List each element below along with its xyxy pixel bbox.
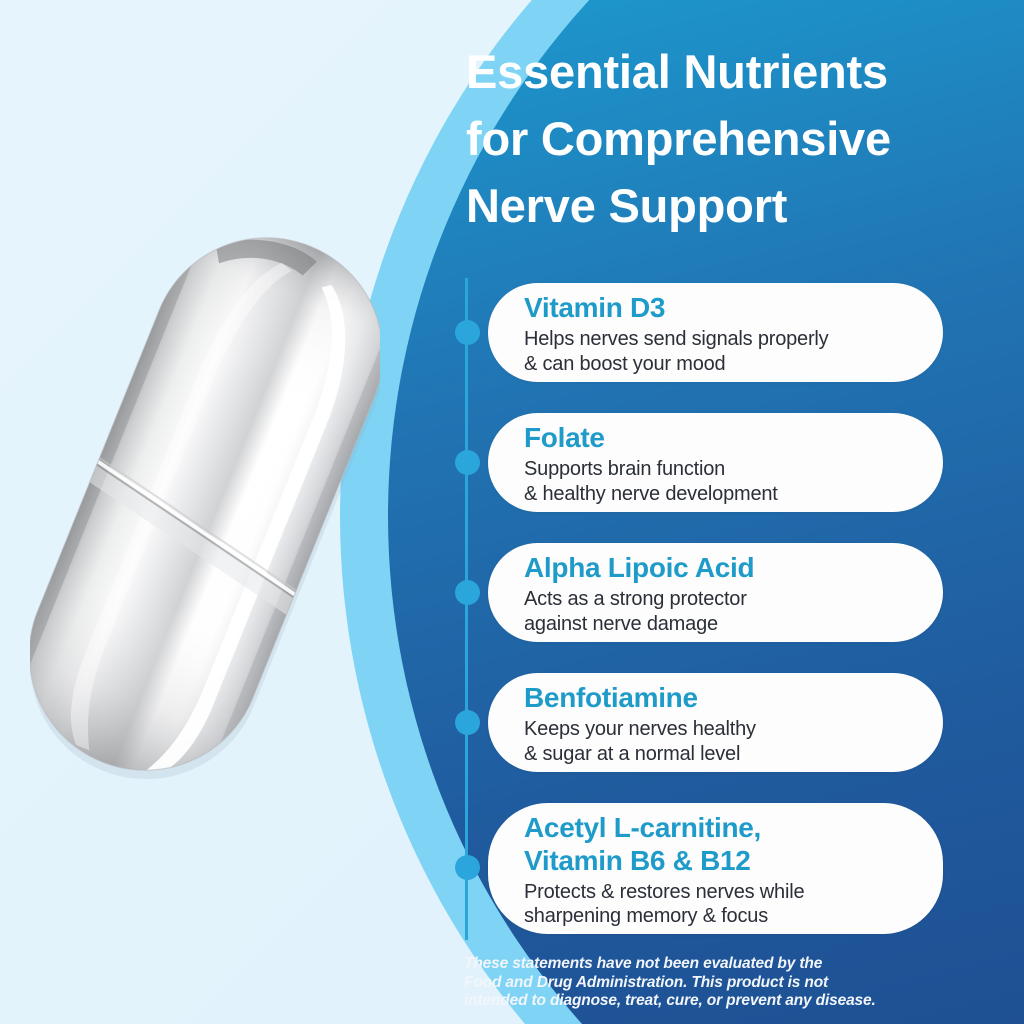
nutrient-title: Alpha Lipoic Acid [524,551,913,584]
nutrient-description: Acts as a strong protector against nerve… [524,587,913,636]
content-column: Essential Nutrients for Comprehensive Ne… [452,0,1024,1024]
nutrient-description: Helps nerves send signals properly & can… [524,327,913,376]
white-capsule-pill [30,212,380,812]
page-title: Essential Nutrients for Comprehensive Ne… [466,38,1011,239]
timeline-dot-3 [455,580,480,605]
timeline-dot-1 [455,320,480,345]
nutrient-description: Protects & restores nerves while sharpen… [524,880,913,929]
nutrient-card-folate[interactable]: Folate Supports brain function & healthy… [488,413,943,512]
nutrient-card-vitamin-d3[interactable]: Vitamin D3 Helps nerves send signals pro… [488,283,943,382]
timeline-dot-5 [455,855,480,880]
nutrient-card-alpha-lipoic-acid[interactable]: Alpha Lipoic Acid Acts as a strong prote… [488,543,943,642]
nutrient-title: Acetyl L-carnitine, Vitamin B6 & B12 [524,811,913,877]
nutrient-card-benfotiamine[interactable]: Benfotiamine Keeps your nerves healthy &… [488,673,943,772]
nutrient-title: Benfotiamine [524,681,913,714]
nutrient-title: Folate [524,421,913,454]
timeline-dot-2 [455,450,480,475]
nutrient-description: Keeps your nerves healthy & sugar at a n… [524,717,913,766]
infographic-canvas: Essential Nutrients for Comprehensive Ne… [0,0,1024,1024]
nutrient-description: Supports brain function & healthy nerve … [524,457,913,506]
nutrient-title: Vitamin D3 [524,291,913,324]
fda-disclaimer: These statements have not been evaluated… [464,955,914,1011]
nutrient-card-acetyl-l-carnitine-b6-b12[interactable]: Acetyl L-carnitine, Vitamin B6 & B12 Pro… [488,803,943,934]
timeline-connector [465,278,468,940]
timeline-dot-4 [455,710,480,735]
